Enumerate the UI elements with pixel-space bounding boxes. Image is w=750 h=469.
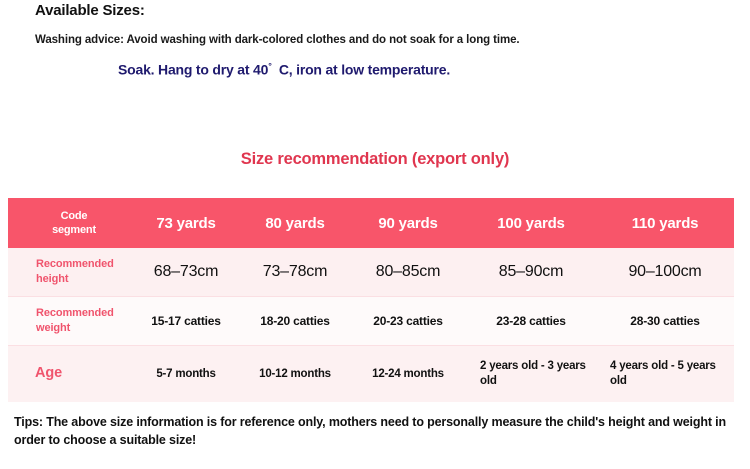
tips-note: Tips: The above size information is for … — [14, 414, 732, 450]
cell-weight-110: 28-30 catties — [596, 297, 734, 345]
row-label-line2: weight — [36, 321, 132, 336]
row-label-age: Age — [8, 346, 132, 402]
cell-age-80: 10-12 months — [240, 346, 350, 402]
cell-age-110: 4 years old - 5 years old — [596, 346, 734, 402]
row-label-line2: height — [36, 272, 132, 287]
column-header-73-yards: 73 yards — [132, 198, 240, 248]
row-label-recommended-weight: Recommended weight — [8, 297, 132, 345]
available-sizes-title: Available Sizes: — [35, 2, 145, 19]
cell-weight-90: 20-23 catties — [350, 297, 466, 345]
row-label-line1: Recommended — [36, 257, 132, 272]
column-header-110-yards: 110 yards — [596, 198, 734, 248]
cell-weight-100: 23-28 catties — [466, 297, 596, 345]
washing-advice-text: Washing advice: Avoid washing with dark-… — [35, 34, 519, 46]
soak-prefix-text: Soak. Hang to dry at 40 — [118, 62, 268, 78]
column-header-100-yards: 100 yards — [466, 198, 596, 248]
cell-age-100: 2 years old - 3 years old — [466, 346, 596, 402]
column-header-90-yards: 90 yards — [350, 198, 466, 248]
cell-height-73: 68–73cm — [132, 248, 240, 296]
code-segment-line1: Code — [16, 209, 132, 223]
cell-weight-73: 15-17 catties — [132, 297, 240, 345]
column-header-code-segment: Code segment — [8, 198, 132, 248]
table-row: Recommended height 68–73cm 73–78cm 80–85… — [8, 248, 734, 296]
degree-symbol-icon: ° — [268, 61, 272, 71]
cell-height-90: 80–85cm — [350, 248, 466, 296]
soak-suffix-text: C, iron at low temperature. — [279, 62, 450, 78]
cell-weight-80: 18-20 catties — [240, 297, 350, 345]
cell-height-80: 73–78cm — [240, 248, 350, 296]
table-row: Age 5-7 months 10-12 months 12-24 months… — [8, 346, 734, 402]
row-label-line1: Recommended — [36, 306, 132, 321]
table-header-row: Code segment 73 yards 80 yards 90 yards … — [8, 198, 734, 248]
size-recommendation-table: Code segment 73 yards 80 yards 90 yards … — [8, 198, 734, 402]
cell-age-73: 5-7 months — [132, 346, 240, 402]
table-row: Recommended weight 15-17 catties 18-20 c… — [8, 297, 734, 345]
cell-age-90: 12-24 months — [350, 346, 466, 402]
row-label-recommended-height: Recommended height — [8, 248, 132, 296]
page-title: Size recommendation (export only) — [0, 150, 750, 169]
code-segment-line2: segment — [16, 223, 132, 237]
row-label-line1: Age — [35, 364, 132, 383]
soak-instruction-text: Soak. Hang to dry at 40°C, iron at low t… — [118, 61, 450, 78]
cell-height-100: 85–90cm — [466, 248, 596, 296]
cell-height-110: 90–100cm — [596, 248, 734, 296]
column-header-80-yards: 80 yards — [240, 198, 350, 248]
